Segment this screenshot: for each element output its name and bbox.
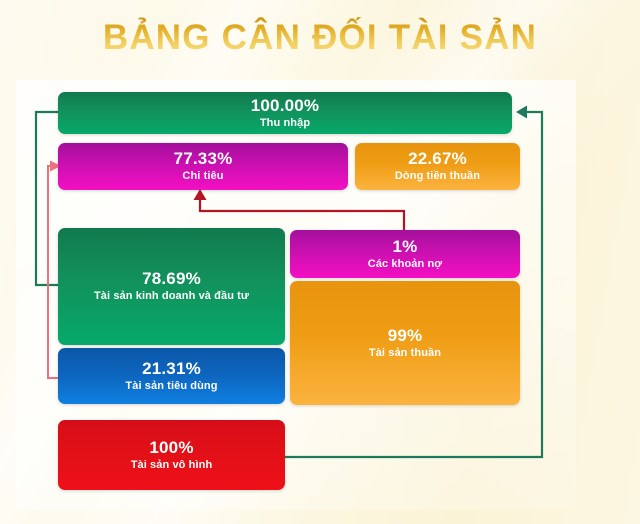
node-income-percent: 100.00%	[251, 96, 320, 116]
node-net-assets[interactable]: 99% Tài sản thuần	[290, 281, 520, 405]
node-net-assets-percent: 99%	[388, 326, 423, 346]
balance-sheet-infographic: BẢNG CÂN ĐỐI TÀI SẢN 100.00% Thu nhập 77…	[0, 0, 640, 524]
node-business-assets-percent: 78.69%	[142, 269, 201, 289]
node-consumer-assets[interactable]: 21.31% Tài sản tiêu dùng	[58, 348, 285, 404]
node-liabilities[interactable]: 1% Các khoản nợ	[290, 230, 520, 278]
node-consumer-assets-label: Tài sản tiêu dùng	[125, 379, 217, 394]
node-liabilities-percent: 1%	[393, 237, 418, 257]
node-consumer-assets-percent: 21.31%	[142, 359, 201, 379]
connector-liabilities-to-spending	[194, 189, 405, 230]
node-spending-label: Chi tiêu	[182, 169, 223, 184]
node-net-cash-flow-label: Dòng tiền thuần	[395, 169, 480, 184]
node-intangible-assets-label: Tài sản vô hình	[131, 458, 213, 473]
node-net-cash-flow[interactable]: 22.67% Dòng tiền thuần	[355, 143, 520, 190]
node-net-cash-flow-percent: 22.67%	[408, 149, 467, 169]
page-title: BẢNG CÂN ĐỐI TÀI SẢN	[0, 16, 640, 60]
node-intangible-assets[interactable]: 100% Tài sản vô hình	[58, 420, 285, 490]
node-income[interactable]: 100.00% Thu nhập	[58, 92, 512, 134]
node-liabilities-label: Các khoản nợ	[368, 257, 442, 272]
node-business-assets[interactable]: 78.69% Tài sản kinh doanh và đầu tư	[58, 228, 285, 345]
node-intangible-assets-percent: 100%	[149, 438, 193, 458]
node-business-assets-label: Tài sản kinh doanh và đầu tư	[94, 289, 249, 304]
node-spending-percent: 77.33%	[174, 149, 233, 169]
node-spending[interactable]: 77.33% Chi tiêu	[58, 143, 348, 190]
node-net-assets-label: Tài sản thuần	[369, 346, 441, 361]
node-income-label: Thu nhập	[260, 116, 310, 131]
